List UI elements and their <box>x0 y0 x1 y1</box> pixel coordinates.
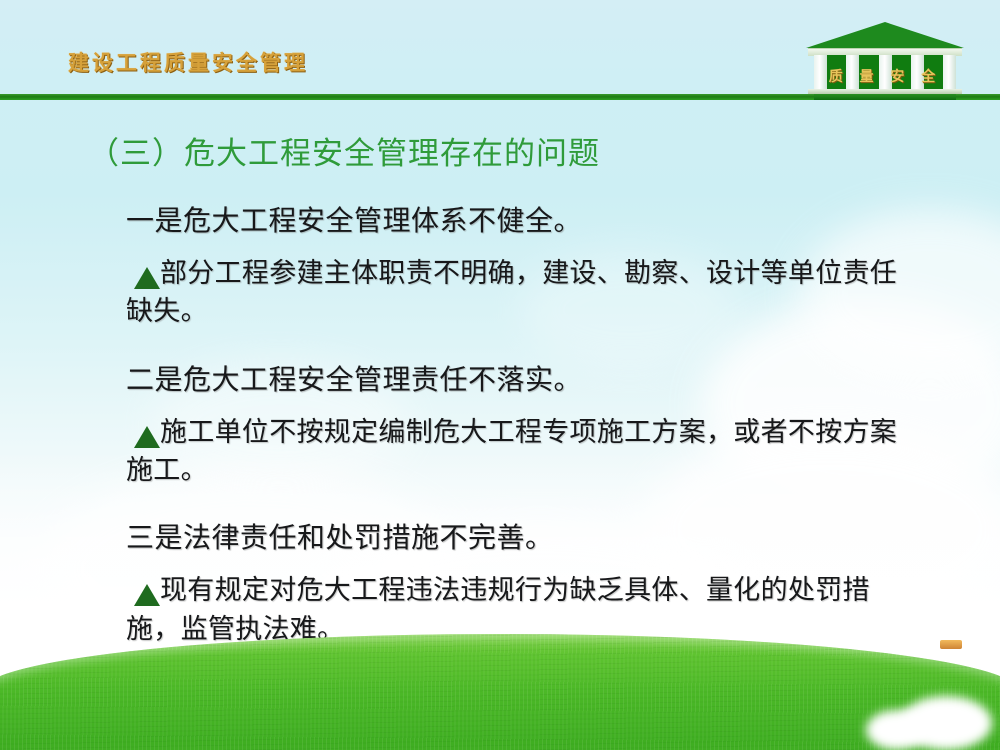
triangle-bullet-icon <box>134 584 160 606</box>
point-lead-3: 三是法律责任和处罚措施不完善。 <box>126 516 1000 556</box>
point-detail-text: 施工单位不按规定编制危大工程专项施工方案，或者不按方案施工。 <box>126 417 897 486</box>
point-detail-text: 部分工程参建主体职责不明确，建设、勘察、设计等单位责任缺失。 <box>126 258 897 327</box>
point-detail-1: 部分工程参建主体职责不明确，建设、勘察、设计等单位责任缺失。 <box>126 255 916 332</box>
triangle-bullet-icon <box>134 426 160 448</box>
slide-body: （三）危大工程安全管理存在的问题 一是危大工程安全管理体系不健全。 部分工程参建… <box>0 110 1000 649</box>
point-lead-2: 二是危大工程安全管理责任不落实。 <box>126 358 1000 398</box>
foreground-cloud <box>866 710 928 750</box>
triangle-bullet-icon <box>134 267 160 289</box>
temple-roof-icon <box>806 22 964 48</box>
slide-header: 建设工程质量安全管理 质 量 安 全 <box>0 0 1000 100</box>
header-title: 建设工程质量安全管理 <box>68 47 308 77</box>
slide-canvas: 建设工程质量安全管理 质 量 安 全 （三）危大工程安全管理存在的问题 一是危大… <box>0 0 1000 750</box>
grass-field-decoration <box>0 634 1000 750</box>
quality-safety-logo: 质 量 安 全 <box>806 22 964 100</box>
point-detail-2: 施工单位不按规定编制危大工程专项施工方案，或者不按方案施工。 <box>126 414 916 491</box>
grass-texture <box>0 634 1000 750</box>
point-lead-1: 一是危大工程安全管理体系不健全。 <box>126 199 1000 239</box>
section-title: （三）危大工程安全管理存在的问题 <box>88 128 1000 173</box>
cottage-icon <box>940 640 962 649</box>
temple-base-icon <box>814 94 956 100</box>
logo-label: 质 量 安 全 <box>814 66 956 86</box>
